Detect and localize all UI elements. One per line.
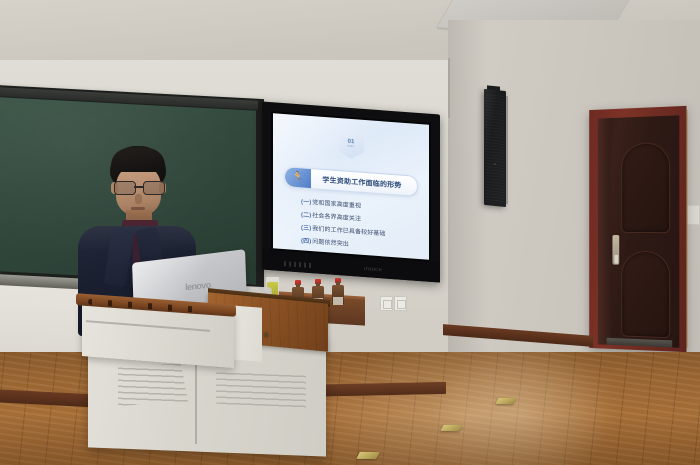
speaker-grill (486, 94, 504, 202)
beverage-bottle (332, 278, 344, 305)
speaker-brand: ● (494, 162, 496, 166)
floor-outlet[interactable] (356, 452, 380, 459)
badge-sublabel: PART (347, 146, 354, 149)
floor-outlet[interactable] (440, 425, 462, 431)
list-item: (四)问题依然突出 (301, 238, 415, 252)
lens-right (143, 181, 165, 195)
door-threshold (607, 338, 673, 348)
door-leaf[interactable] (598, 115, 679, 348)
bullet-text: 问题依然突出 (312, 239, 349, 248)
wall-outlet[interactable] (394, 296, 407, 311)
slide-bullet-list: (一)党和国家高度重视 (二)社会各界高度关注 (三)我们的工作已具备较好基础 … (301, 199, 415, 259)
hair-fringe (111, 148, 165, 172)
section-badge: 01 PART (338, 128, 364, 160)
bottle-body (332, 285, 344, 305)
presentation-slide: 01 PART 🏃 学生资助工作面临的形势 (一)党和国家高度重视 (二)社会各… (273, 113, 429, 259)
door-frame (589, 106, 686, 352)
bullet-text: 社会各界高度关注 (312, 213, 361, 223)
bullet-index: (四) (301, 238, 311, 245)
bullet-text: 我们的工作已具备较好基础 (312, 226, 385, 237)
floor-outlet[interactable] (495, 398, 516, 404)
bullet-index: (一) (301, 199, 311, 206)
wall-outlet[interactable] (380, 296, 393, 311)
smart-display[interactable]: 01 PART 🏃 学生资助工作面临的形势 (一)党和国家高度重视 (二)社会各… (262, 101, 440, 282)
bullet-text: 党和国家高度重视 (312, 200, 361, 210)
podium-lock[interactable] (264, 333, 268, 337)
bullet-index: (三) (301, 225, 311, 232)
running-person-icon: 🏃 (285, 167, 311, 188)
list-item: (二)社会各界高度关注 (301, 212, 415, 226)
glasses-bridge (134, 186, 143, 188)
display-bezel: 01 PART 🏃 学生资助工作面临的形势 (一)党和国家高度重视 (二)社会各… (271, 111, 431, 262)
lens-left (114, 181, 136, 195)
slide-title-pill: 🏃 学生资助工作面临的形势 (284, 166, 418, 197)
door-panel-lower (621, 251, 670, 338)
list-item: (一)党和国家高度重视 (301, 199, 415, 213)
classroom-scene: 01 PART 🏃 学生资助工作面临的形势 (一)党和国家高度重视 (二)社会各… (0, 0, 700, 465)
display-control-buttons[interactable] (284, 261, 314, 268)
nose (135, 194, 142, 204)
bullet-index: (二) (301, 212, 311, 219)
door-lock-knob[interactable] (614, 255, 618, 264)
list-item: (三)我们的工作已具备较好基础 (301, 225, 415, 239)
door-panel-upper (621, 142, 670, 233)
display-brand-logo: iTOUCH (364, 266, 382, 272)
door-edge (598, 118, 611, 345)
bottle-label (333, 297, 343, 305)
slide-title: 学生资助工作面临的形势 (311, 174, 417, 192)
wall-speaker: ● (484, 89, 506, 207)
wall-corner (448, 58, 450, 118)
cabinet-vent-slots (216, 366, 306, 427)
display-screen[interactable]: 01 PART 🏃 学生资助工作面临的形势 (一)党和国家高度重视 (二)社会各… (273, 113, 429, 259)
eyeglasses-icon (113, 181, 165, 194)
